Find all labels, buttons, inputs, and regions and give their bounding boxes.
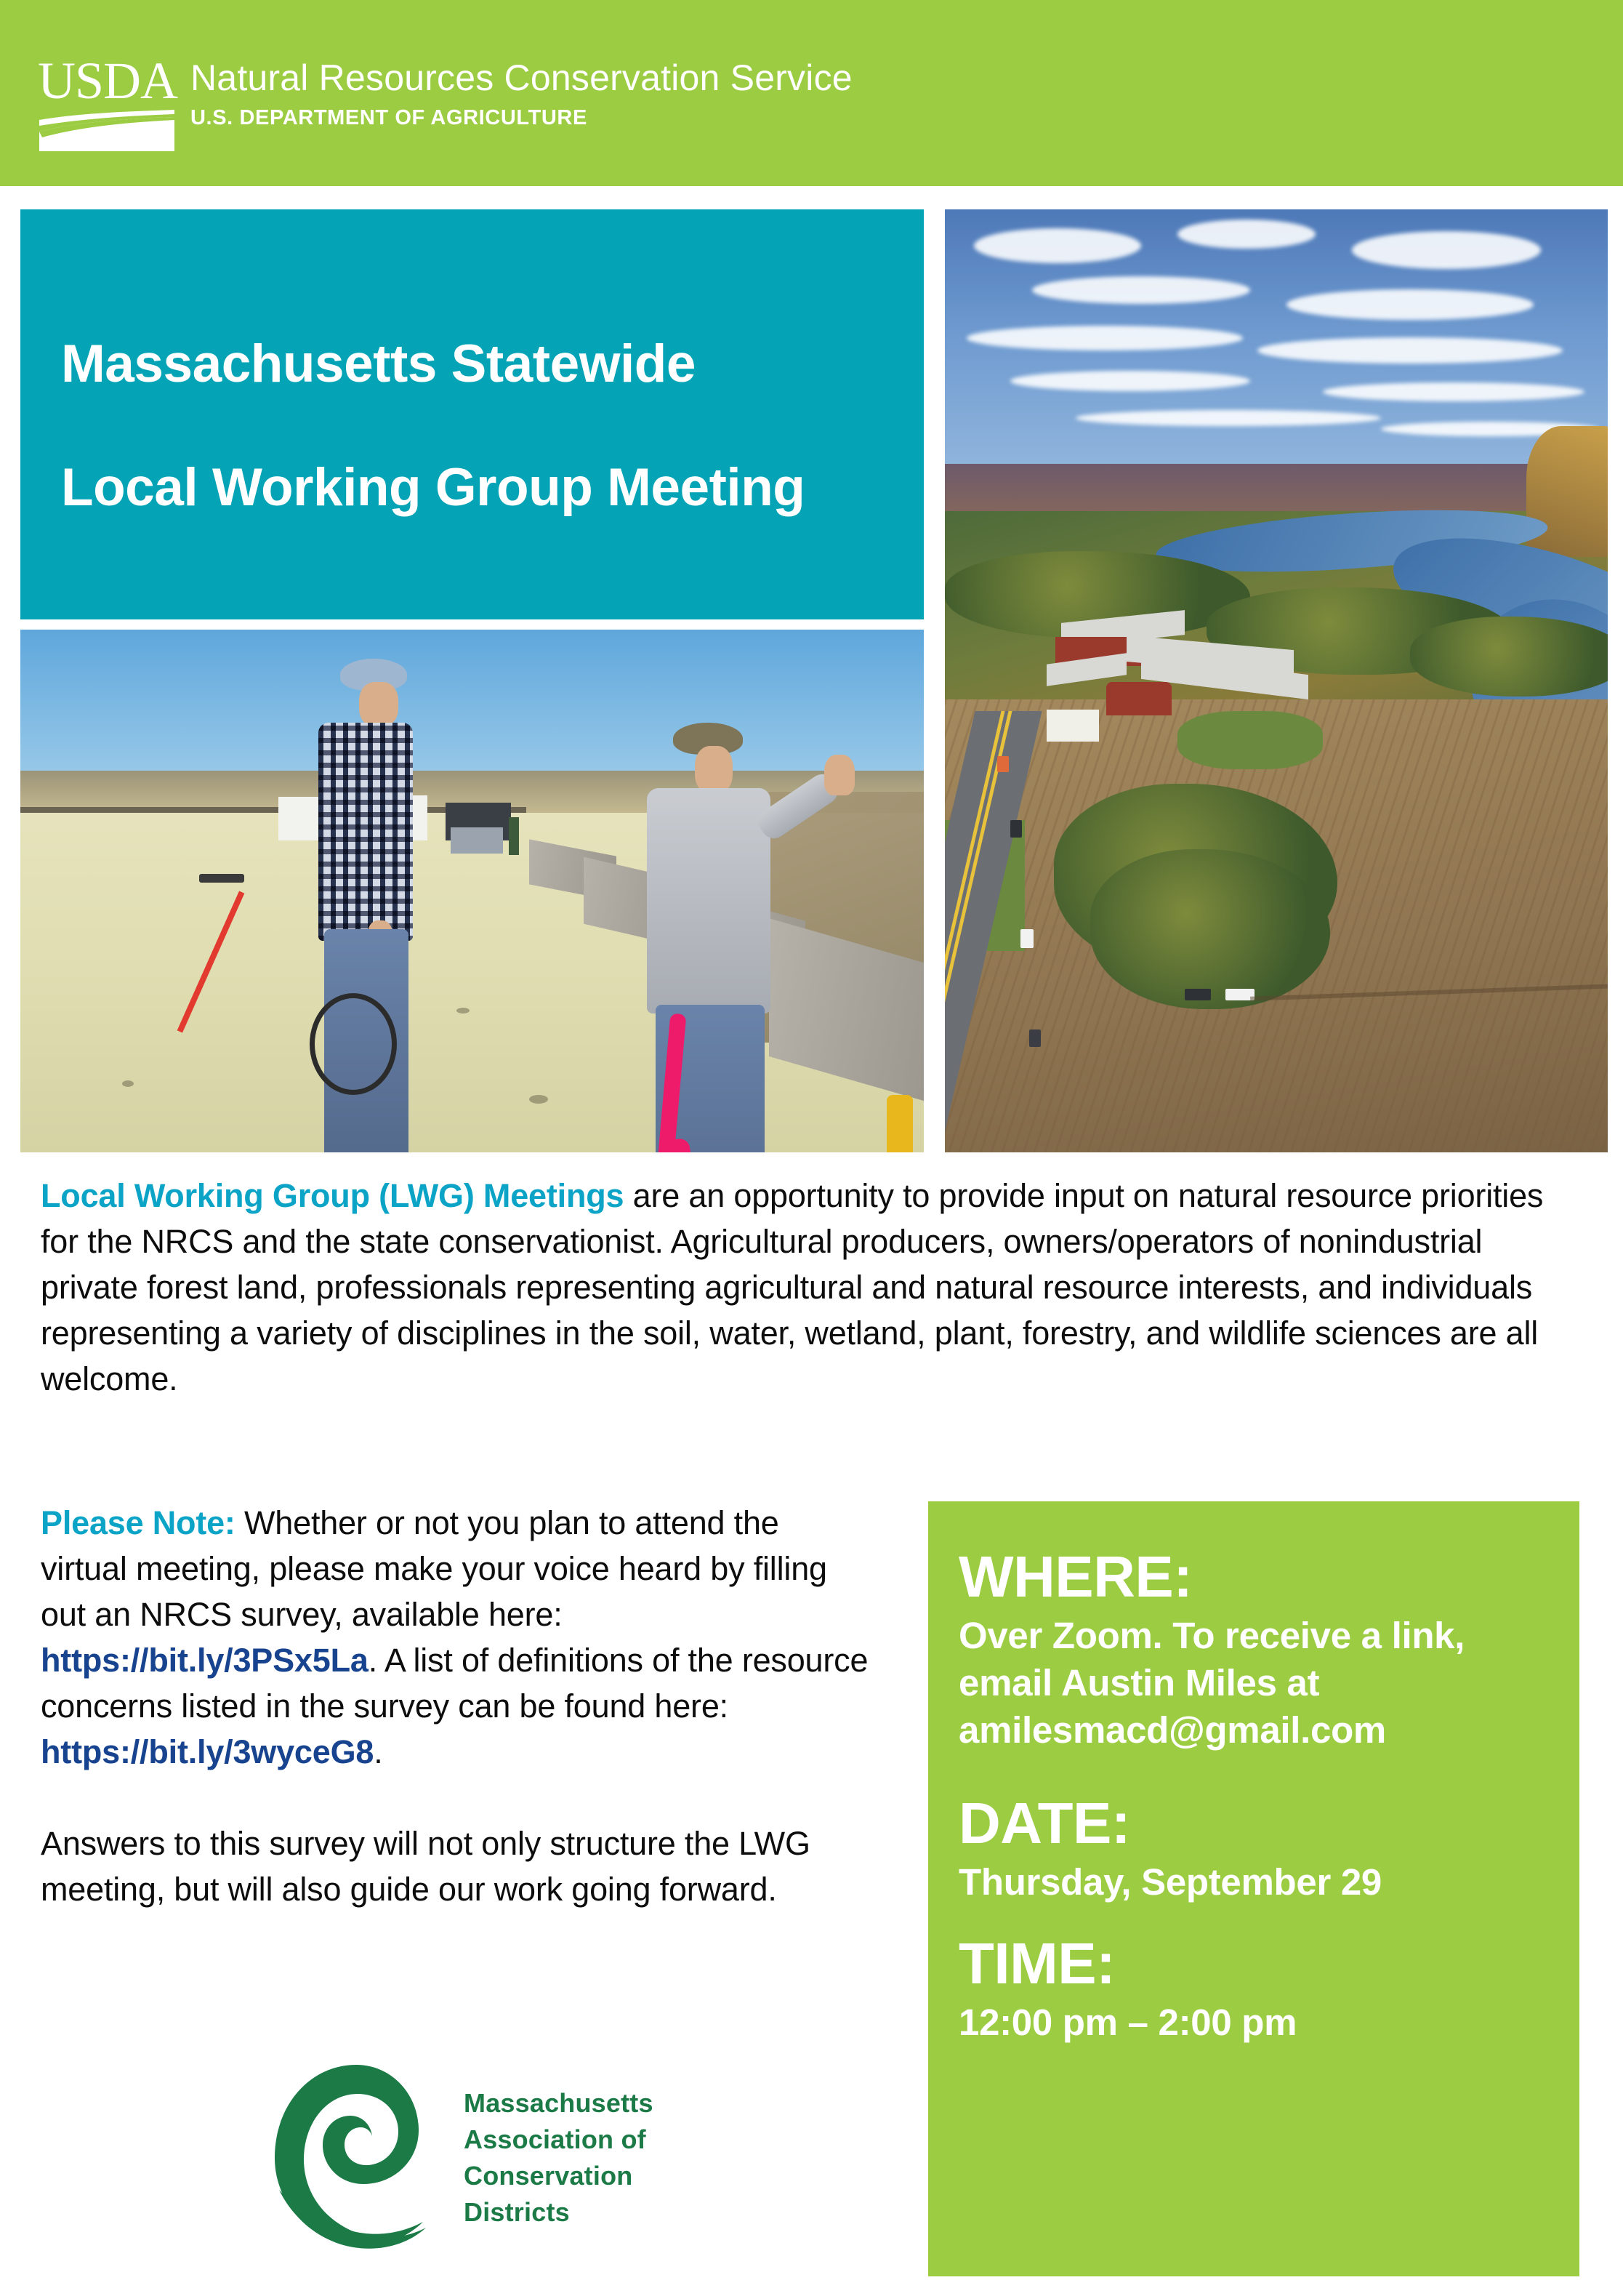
macd-line-2: Association of xyxy=(464,2122,653,2158)
intro-lead: Local Working Group (LWG) Meetings xyxy=(41,1177,624,1214)
photo-gravel xyxy=(529,1095,548,1104)
photo-parked-car xyxy=(1185,989,1211,1000)
photo-cloud xyxy=(967,326,1243,350)
usda-field-emblem-icon xyxy=(39,110,174,151)
date-label: DATE: xyxy=(959,1790,1550,1857)
photo-cloud xyxy=(1286,289,1534,320)
photo-vehicle xyxy=(1020,929,1034,948)
photo-sky xyxy=(20,630,924,787)
photo-gravel xyxy=(456,1008,470,1013)
definitions-link[interactable]: https://bit.ly/3wyceG8 xyxy=(41,1733,374,1770)
macd-line-3: Conservation xyxy=(464,2158,653,2194)
photo-probe-handle xyxy=(199,874,244,883)
photo-tree-line xyxy=(1410,617,1608,697)
intro-paragraph: Local Working Group (LWG) Meetings are a… xyxy=(41,1173,1582,1402)
usda-header-band: USDA Natural Resources Conservation Serv… xyxy=(0,0,1623,186)
photo-red-barn xyxy=(1106,682,1172,715)
photo-cloud xyxy=(1177,220,1316,249)
note-paragraph-1: Please Note: Whether or not you plan to … xyxy=(41,1500,873,1775)
photo-marker-cone xyxy=(887,1095,913,1152)
photo-aerial-farm xyxy=(945,209,1608,1152)
photo-cloud xyxy=(974,228,1141,263)
note-label: Please Note: xyxy=(41,1504,235,1541)
time-label: TIME: xyxy=(959,1930,1550,1997)
photo-distant-person xyxy=(509,817,519,855)
photo-cloud xyxy=(1032,276,1250,304)
spacer xyxy=(959,1906,1550,1930)
photo-rocky-ridge xyxy=(1526,426,1608,557)
usda-wordmark: USDA xyxy=(38,57,176,105)
event-details-panel: WHERE: Over Zoom. To receive a link, ema… xyxy=(928,1501,1579,2276)
photo-raised-hand xyxy=(824,755,855,795)
header-title-group: Natural Resources Conservation Service U… xyxy=(190,57,853,130)
flyer-page: USDA Natural Resources Conservation Serv… xyxy=(0,0,1623,2296)
macd-swirl-icon xyxy=(269,2062,443,2258)
macd-logo: Massachusetts Association of Conservatio… xyxy=(269,2058,705,2268)
photo-plaid-shirt xyxy=(318,723,413,941)
usda-logo: USDA xyxy=(38,57,176,151)
photo-cloud xyxy=(1257,337,1563,364)
photo-face xyxy=(695,746,733,794)
photo-field-visit xyxy=(20,630,924,1152)
note-text-part-3: . xyxy=(374,1733,382,1770)
meeting-title-block: Massachusetts Statewide Local Working Gr… xyxy=(20,209,924,619)
photo-gray-shirt xyxy=(647,788,770,1013)
spacer xyxy=(959,1754,1550,1790)
photo-cloud xyxy=(1010,371,1250,391)
survey-link[interactable]: https://bit.ly/3PSx5La xyxy=(41,1642,369,1679)
note-paragraph-2: Answers to this survey will not only str… xyxy=(41,1821,873,1912)
note-column: Please Note: Whether or not you plan to … xyxy=(41,1500,873,1912)
photo-cloud xyxy=(1352,231,1541,269)
macd-line-4: Districts xyxy=(464,2194,653,2231)
where-value: Over Zoom. To receive a link, email Aust… xyxy=(959,1612,1550,1754)
agency-name: Natural Resources Conservation Service xyxy=(190,57,853,99)
photo-face xyxy=(359,682,398,727)
macd-line-1: Massachusetts xyxy=(464,2085,653,2122)
photo-gravel xyxy=(122,1080,134,1087)
where-label: WHERE: xyxy=(959,1544,1550,1610)
photo-vehicle xyxy=(997,756,1009,772)
photo-farmhouse xyxy=(1047,710,1099,742)
macd-logo-text: Massachusetts Association of Conservatio… xyxy=(464,2085,653,2231)
photo-pasture xyxy=(1177,711,1323,769)
time-value: 12:00 pm – 2:00 pm xyxy=(959,1999,1550,2046)
meeting-title-line-1: Massachusetts Statewide xyxy=(61,302,883,426)
date-value: Thursday, September 29 xyxy=(959,1858,1550,1906)
photo-pickup xyxy=(451,827,503,854)
photo-cloud xyxy=(1076,410,1381,426)
photo-vehicle xyxy=(1010,820,1022,838)
photo-vehicle xyxy=(1029,1029,1041,1047)
photo-cloud xyxy=(1323,382,1584,401)
department-name: U.S. DEPARTMENT OF AGRICULTURE xyxy=(190,106,853,130)
meeting-title-line-2: Local Working Group Meeting xyxy=(61,426,883,550)
photo-hose-coil xyxy=(310,993,397,1095)
